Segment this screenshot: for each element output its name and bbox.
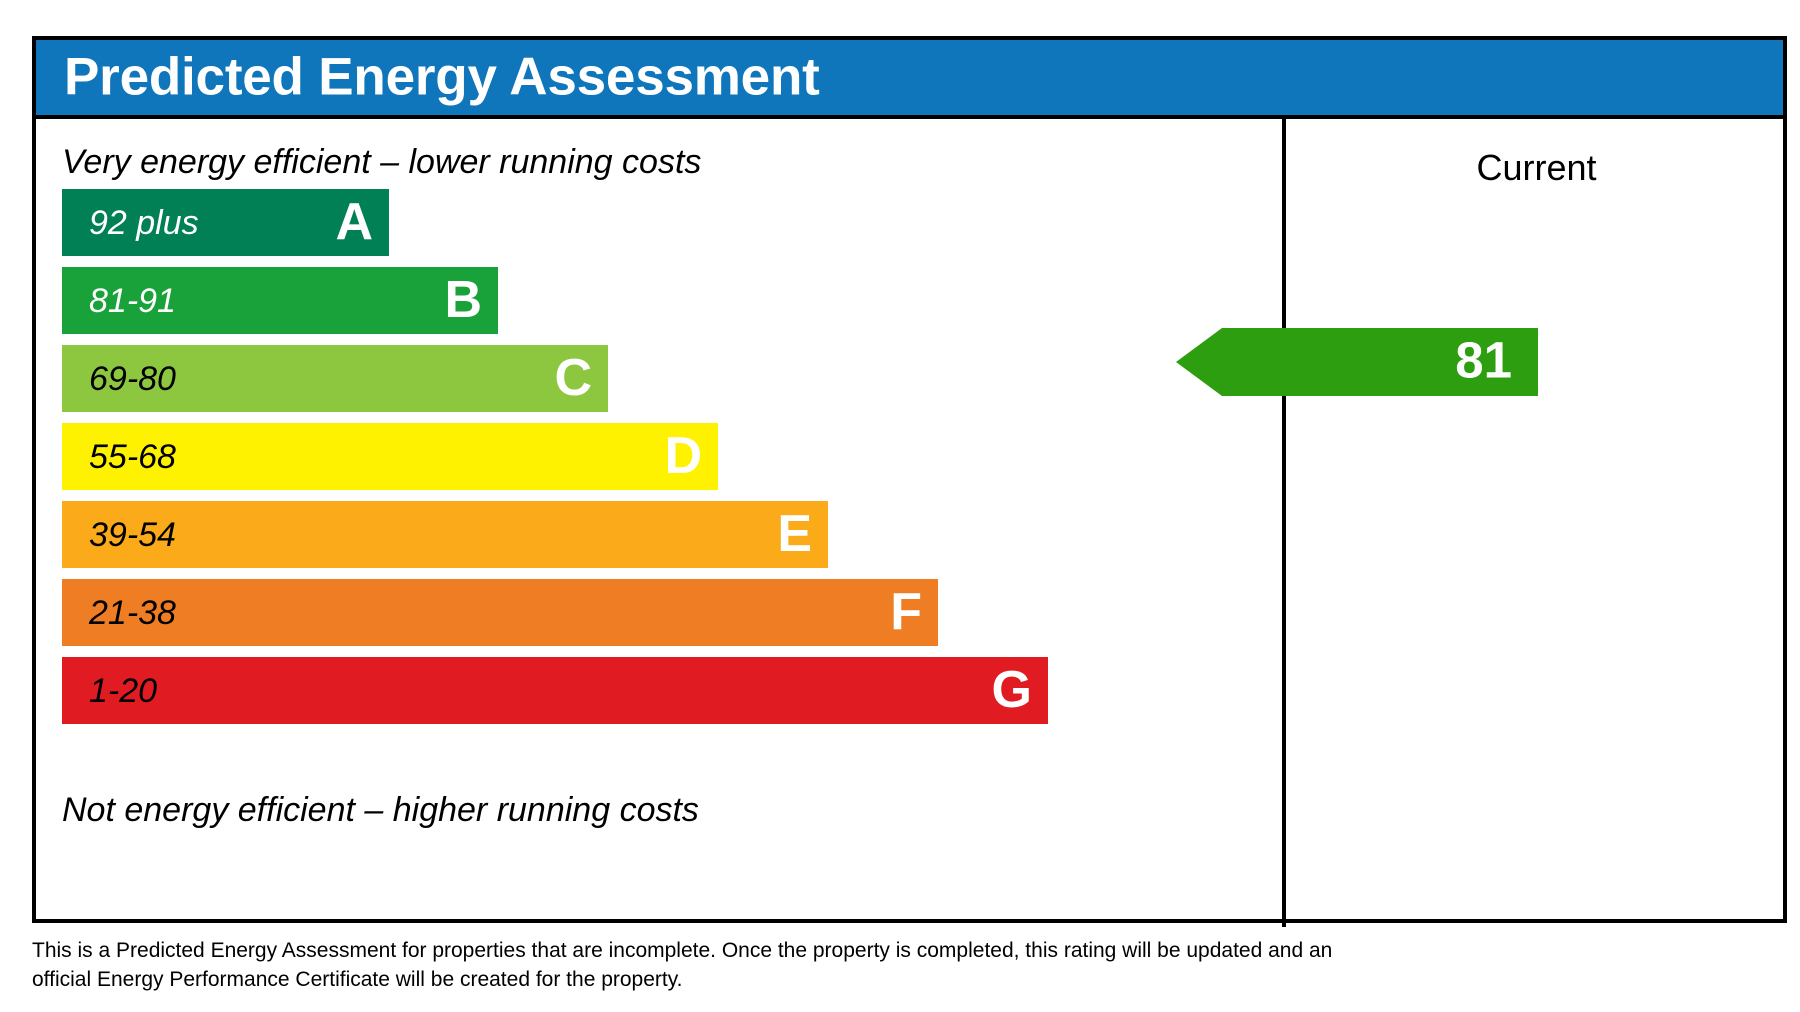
band-letter-label: F <box>890 585 922 637</box>
scale-top-note: Very energy efficient – lower running co… <box>62 143 701 182</box>
rating-band-f: 21-38F <box>62 579 938 646</box>
rating-band-b: 81-91B <box>62 267 498 334</box>
scale-bottom-note: Not energy efficient – higher running co… <box>62 791 699 830</box>
footnote: This is a Predicted Energy Assessment fo… <box>32 936 1332 994</box>
rating-band-c: 69-80C <box>62 345 608 412</box>
certificate-title-bar: Predicted Energy Assessment <box>36 40 1783 119</box>
band-range-label: 21-38 <box>89 596 176 630</box>
band-letter-label: E <box>777 507 812 559</box>
current-rating-column: Current 81 <box>1286 119 1787 927</box>
footnote-line-2: official Energy Performance Certificate … <box>32 965 1332 994</box>
band-letter-label: B <box>444 273 482 325</box>
band-letter-label: D <box>664 429 702 481</box>
band-range-label: 55-68 <box>89 440 176 474</box>
rating-band-d: 55-68D <box>62 423 718 490</box>
band-letter-label: A <box>335 195 373 247</box>
current-rating-value: 81 <box>1455 334 1512 385</box>
band-range-label: 1-20 <box>89 674 157 708</box>
certificate-frame: Predicted Energy Assessment Very energy … <box>32 36 1787 923</box>
band-range-label: 69-80 <box>89 362 176 396</box>
energy-rating-scale: Very energy efficient – lower running co… <box>36 119 1282 927</box>
rating-band-g: 1-20G <box>62 657 1048 724</box>
rating-band-a: 92 plusA <box>62 189 389 256</box>
current-column-header: Current <box>1286 147 1787 189</box>
page-title: Predicted Energy Assessment <box>64 46 820 107</box>
current-rating-arrow: 81 <box>1176 328 1538 396</box>
rating-band-e: 39-54E <box>62 501 828 568</box>
band-letter-label: C <box>554 351 592 403</box>
predicted-energy-assessment-certificate: Predicted Energy Assessment Very energy … <box>0 0 1800 1012</box>
footnote-line-1: This is a Predicted Energy Assessment fo… <box>32 936 1332 965</box>
band-range-label: 92 plus <box>89 206 199 240</box>
band-range-label: 81-91 <box>89 284 176 318</box>
band-range-label: 39-54 <box>89 518 176 552</box>
band-letter-label: G <box>992 663 1032 715</box>
